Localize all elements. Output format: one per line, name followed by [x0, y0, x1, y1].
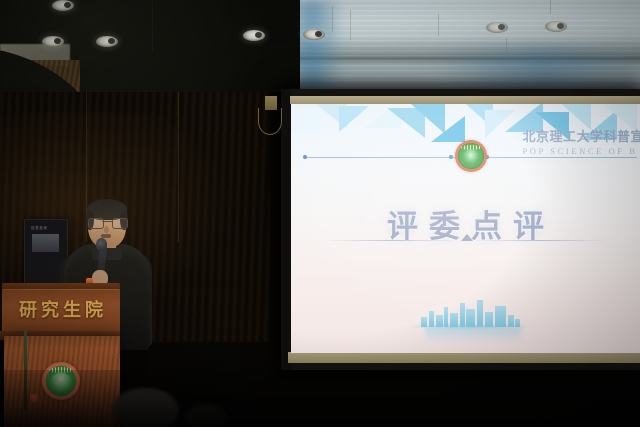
ceiling-seam [550, 0, 551, 14]
decorative-triangle [291, 108, 321, 132]
ceiling-seam [438, 14, 439, 36]
skyline-building [515, 319, 520, 327]
microphone-head-icon [96, 238, 107, 251]
downlight-icon [52, 0, 74, 11]
kiosk-screen [32, 234, 59, 252]
presentation-slide: 北京理工大学科普宣 POP SCIENCE OF B 评委点评 [291, 104, 640, 353]
glasses-lens-left [88, 218, 104, 229]
slide-rule-left [305, 157, 460, 158]
skyline-building [460, 303, 465, 327]
speaker-collar [92, 248, 122, 260]
slide-title-rule-left [329, 240, 457, 241]
slide-rule-dot-left [303, 155, 307, 159]
skyline-building [466, 309, 475, 327]
downlight-icon [42, 36, 64, 47]
ceiling-seam [332, 6, 333, 32]
skyline-building [485, 312, 493, 327]
glasses-lens-right [112, 218, 128, 229]
skyline-building [477, 300, 483, 327]
skyline-building [421, 317, 427, 327]
slide-title-rule-right [475, 240, 603, 241]
ceiling-blue-reflection-2 [438, 48, 640, 90]
ceiling-seam [350, 10, 351, 40]
university-emblem-icon [455, 140, 487, 172]
slide-rule-dot-mid [449, 155, 453, 159]
slide-city-skyline [403, 297, 533, 341]
photo-scene: 北京理工大学科普宣 POP SCIENCE OF B 评委点评 信息查询 [0, 0, 640, 427]
podium-banner-text: 研究生院 [2, 296, 120, 322]
decorative-triangle [603, 104, 637, 132]
wall-light-strip [0, 44, 70, 66]
speaker-nose [104, 226, 109, 233]
glasses-bridge [102, 221, 112, 222]
skyline-building [495, 306, 506, 327]
projection-screen-bottom-border [288, 352, 640, 363]
ceiling-seam [506, 38, 507, 54]
ceiling-seam-horizontal [288, 50, 640, 51]
downlight-icon [486, 22, 508, 33]
podium-banner: 研究生院 [2, 289, 120, 335]
skyline-building [429, 311, 434, 327]
downlight-icon [243, 30, 265, 41]
kiosk-label: 信息查询 [31, 226, 47, 231]
wall-seam [178, 92, 179, 242]
downlight-icon [545, 21, 567, 32]
ceiling-seam [152, 0, 153, 52]
skyline-building [508, 315, 514, 327]
slide-title-caret-icon [461, 234, 473, 241]
downlight-icon [96, 36, 118, 47]
projection-screen-left-edge [281, 89, 291, 370]
downlight-icon [303, 29, 325, 40]
skyline-building [436, 315, 443, 327]
hanging-cable-loop [258, 108, 282, 135]
slide-rule-right [487, 157, 637, 158]
slide-org-name-en: POP SCIENCE OF B [522, 147, 640, 157]
skyline-building [450, 313, 458, 327]
skyline-reflection [425, 327, 521, 343]
slide-org-name-cn: 北京理工大学科普宣 [522, 130, 640, 145]
skyline-building [444, 307, 448, 327]
floor-shadow [0, 370, 640, 427]
projection-screen-top-border [290, 96, 640, 104]
slide-org-text: 北京理工大学科普宣 POP SCIENCE OF B [522, 130, 640, 156]
ceiling-panel-right [288, 0, 640, 92]
